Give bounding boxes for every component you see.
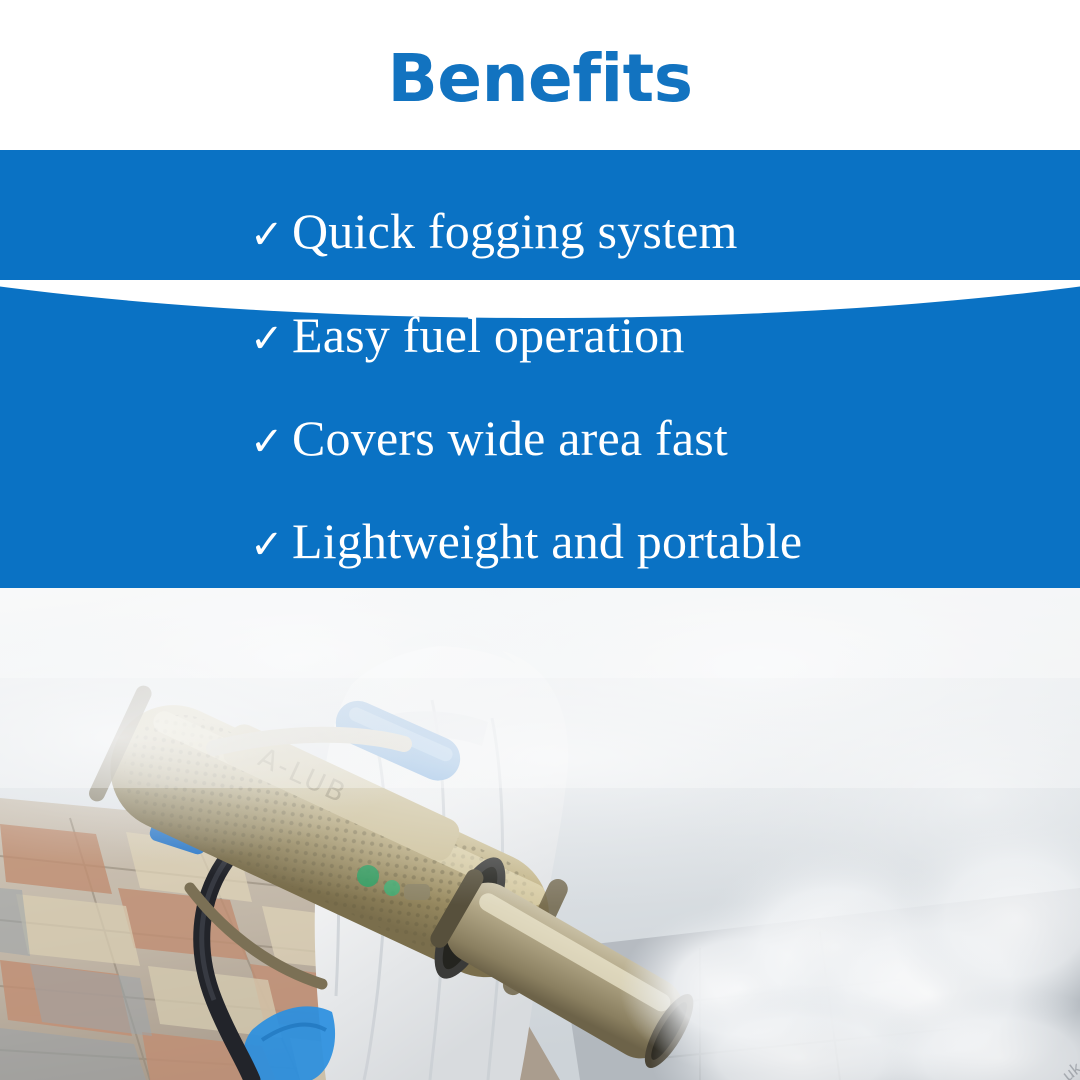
- header: Benefits: [0, 0, 1080, 150]
- benefit-label: Lightweight and portable: [292, 516, 802, 566]
- benefit-label: Easy fuel operation: [292, 310, 685, 360]
- benefits-poster: Benefits ✓ Quick fogging system ✓ Easy f…: [0, 0, 1080, 1080]
- list-item: ✓ Easy fuel operation: [250, 310, 685, 360]
- benefits-panel: ✓ Quick fogging system ✓ Easy fuel opera…: [0, 140, 1080, 588]
- page-title: Benefits: [388, 46, 693, 112]
- check-icon: ✓: [250, 422, 292, 462]
- list-item: ✓ Quick fogging system: [250, 206, 738, 256]
- list-item: ✓ Lightweight and portable: [250, 516, 802, 566]
- list-item: ✓ Covers wide area fast: [250, 413, 728, 463]
- benefit-label: Covers wide area fast: [292, 413, 728, 463]
- product-photo: A-LUB: [0, 588, 1080, 1080]
- benefits-list: ✓ Quick fogging system ✓ Easy fuel opera…: [0, 140, 1080, 588]
- check-icon: ✓: [250, 525, 292, 565]
- fogging-machine-photo-illustration: A-LUB: [0, 588, 1080, 1080]
- check-icon: ✓: [250, 319, 292, 359]
- check-icon: ✓: [250, 215, 292, 255]
- benefit-label: Quick fogging system: [292, 206, 738, 256]
